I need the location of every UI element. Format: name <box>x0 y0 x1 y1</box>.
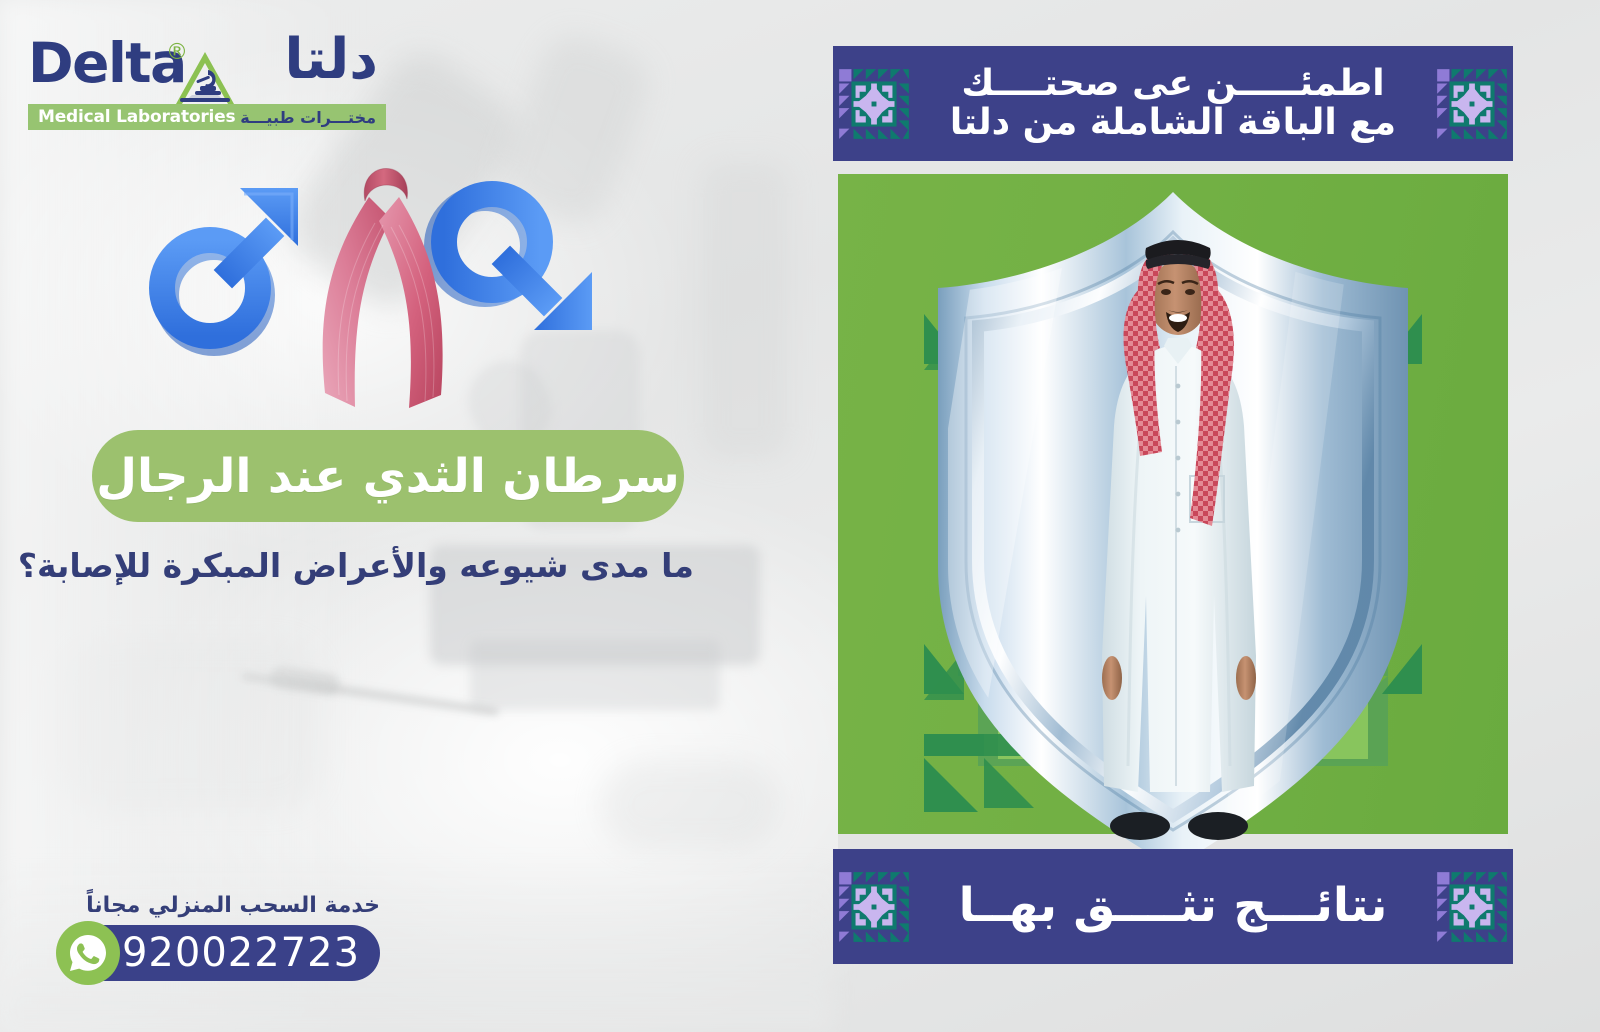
sadu-pattern-tile-icon <box>1431 863 1513 951</box>
banner-top-line1: اطمئـــــن عى صحتــــك <box>919 65 1427 104</box>
logo-tagline-en: Medical Laboratories <box>38 107 235 127</box>
sadu-pattern-tile-icon <box>1431 60 1513 148</box>
phone-number: 920022723 <box>122 930 360 976</box>
page-subtitle: ما مدى شيوعه والأعراض المبكرة للإصابة؟ <box>18 546 694 585</box>
banner-top-line2: مع الباقة الشاملة من دلتا <box>919 104 1427 143</box>
logo-wordmark-ar: دلتا <box>284 32 378 88</box>
saudi-man-thobe-shemagh-photo <box>1078 226 1278 858</box>
contact-block: خدمة السحب المنزلي مجاناً 920022723 <box>28 893 388 993</box>
banner-bottom: نتائـــج تثــــق بهــا <box>833 849 1513 964</box>
whatsapp-icon[interactable] <box>56 921 120 985</box>
banner-top: اطمئـــــن عى صحتــــك مع الباقة الشاملة… <box>833 46 1513 161</box>
sadu-pattern-tile-icon <box>833 60 915 148</box>
banner-bottom-line1: نتائـــج تثــــق بهــا <box>919 881 1427 932</box>
brand-logo: Delta دلتا ® Medical Laboratories مختـــ… <box>14 18 384 110</box>
poster-canvas: Delta دلتا ® Medical Laboratories مختـــ… <box>0 0 1600 1032</box>
logo-tagline-ar: مختـــرات طبيـــة <box>240 108 376 127</box>
delta-triangle-microscope-icon <box>172 48 238 110</box>
home-collection-note: خدمة السحب المنزلي مجاناً <box>86 893 380 918</box>
sadu-pattern-tile-icon <box>833 863 915 951</box>
page-title: سرطان الثدي عند الرجال <box>96 449 679 504</box>
logo-wordmark-en: Delta <box>28 36 186 91</box>
pink-awareness-ribbon-icon <box>295 145 475 420</box>
banner-bottom-text: نتائـــج تثــــق بهــا <box>915 881 1431 932</box>
logo-tagline-band: Medical Laboratories مختـــرات طبيـــة <box>28 104 386 130</box>
headline-pill: سرطان الثدي عند الرجال <box>92 430 684 522</box>
right-panel: اطمئـــــن عى صحتــــك مع الباقة الشاملة… <box>833 46 1513 964</box>
banner-top-text: اطمئـــــن عى صحتــــك مع الباقة الشاملة… <box>915 65 1431 143</box>
male-gender-symbol-icon <box>162 188 298 343</box>
